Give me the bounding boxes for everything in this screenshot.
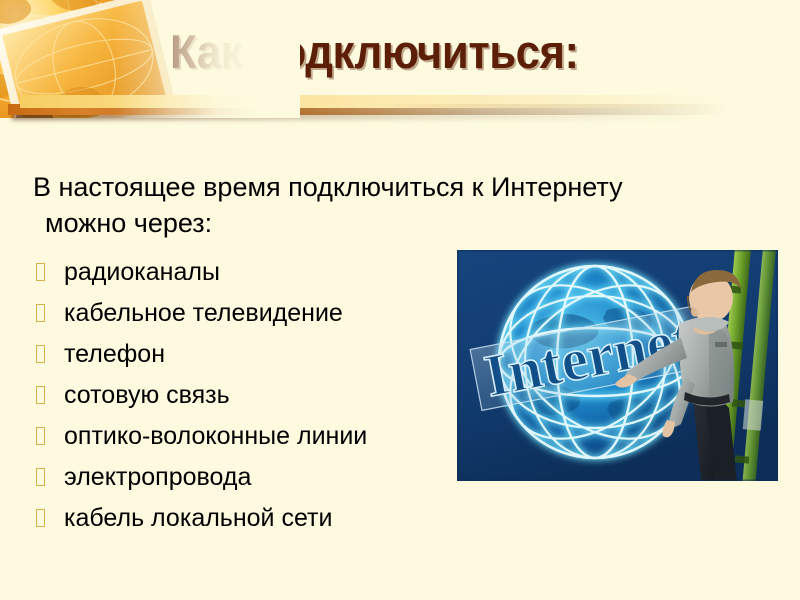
- bullet-square-icon: [36, 263, 45, 281]
- bullet-square-icon: [36, 427, 45, 445]
- list-item: сотовую связь: [30, 375, 460, 416]
- list-item-label: оптико-волоконные линии: [64, 422, 367, 450]
- list-item: телефон: [30, 334, 460, 375]
- list-item-label: кабельное телевидение: [64, 299, 343, 327]
- bullet-square-icon: [36, 345, 45, 363]
- internet-globe-photo: Internet: [457, 250, 778, 481]
- bullet-square-icon: [36, 509, 45, 527]
- bullet-square-icon: [36, 304, 45, 322]
- list-item: оптико-волоконные линии: [30, 416, 460, 457]
- header-fade-overlay: [0, 0, 300, 118]
- intro-paragraph: В настоящее время подключиться к Интерне…: [33, 170, 723, 241]
- list-item: радиоканалы: [30, 252, 460, 293]
- presentation-slide: Как подключиться: В настоящее время подк…: [0, 0, 800, 600]
- connection-methods-list: радиоканалы кабельное телевидение телефо…: [30, 252, 460, 539]
- list-item-label: сотовую связь: [64, 381, 230, 409]
- list-item-label: электропровода: [64, 463, 251, 491]
- intro-line-1: В настоящее время подключиться к Интерне…: [33, 172, 623, 202]
- internet-globe-photo-art: Internet: [457, 250, 778, 481]
- header-graphic: [0, 0, 300, 118]
- list-item-label: телефон: [64, 340, 165, 368]
- list-item: кабельное телевидение: [30, 293, 460, 334]
- list-item: кабель локальной сети: [30, 498, 460, 539]
- bullet-square-icon: [36, 468, 45, 486]
- intro-line-2: можно через:: [33, 206, 723, 242]
- bullet-square-icon: [36, 386, 45, 404]
- list-item-label: кабель локальной сети: [64, 504, 332, 532]
- list-item-label: радиоканалы: [64, 258, 220, 286]
- list-item: электропровода: [30, 457, 460, 498]
